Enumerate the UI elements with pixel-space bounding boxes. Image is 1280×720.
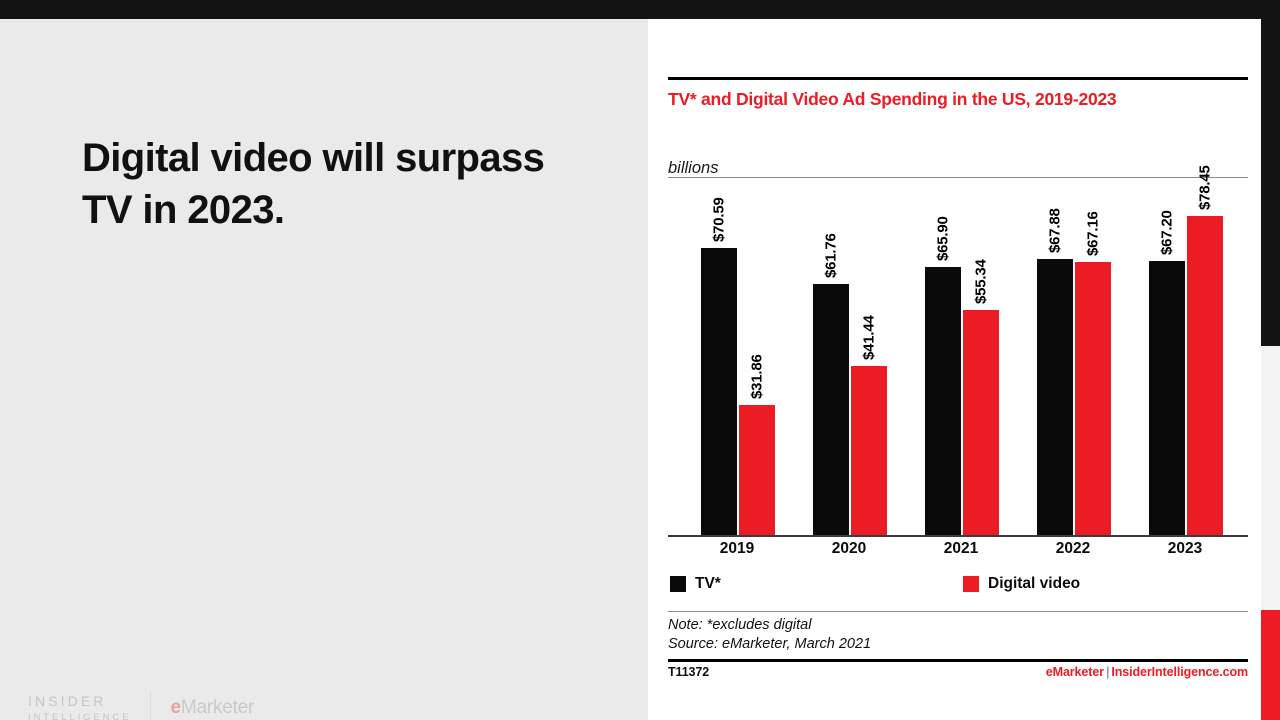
bar-chart-plot-area: $70.59$31.86$61.76$41.44$65.90$55.34$67.… <box>668 189 1248 537</box>
bar-tv-2022[interactable]: $67.88 <box>1037 259 1073 535</box>
bar-value-label: $70.59 <box>711 197 728 242</box>
chart-subtitle: billions <box>668 159 718 178</box>
bar-digital-video-2023[interactable]: $78.45 <box>1187 216 1223 535</box>
slide-root: Digital video will surpass TV in 2023. I… <box>0 0 1280 720</box>
page-title: Digital video will surpass TV in 2023. <box>82 132 602 236</box>
bar-group-2021: $65.90$55.34 <box>905 189 1017 535</box>
bar-value-label: $67.16 <box>1085 211 1102 256</box>
x-tick-2022: 2022 <box>1017 540 1129 558</box>
x-tick-2023: 2023 <box>1129 540 1241 558</box>
bar-value-label: $61.76 <box>823 233 840 278</box>
x-axis-tick-labels: 20192020202120222023 <box>668 540 1248 562</box>
bar-tv-2019[interactable]: $70.59 <box>701 248 737 535</box>
insider-intelligence-logo: INSIDER INTELLIGENCE <box>28 693 131 720</box>
legend-item-digital-video: Digital video <box>963 575 1080 593</box>
bar-tv-2023[interactable]: $67.20 <box>1149 261 1185 535</box>
right-edge-red-stripe <box>1261 610 1280 720</box>
bar-group-2022: $67.88$67.16 <box>1017 189 1129 535</box>
chart-legend: TV* Digital video <box>668 575 1248 599</box>
brand-intelligence-text: INTELLIGENCE <box>28 712 131 720</box>
bar-group-2019: $70.59$31.86 <box>681 189 793 535</box>
bar-digital-video-2021[interactable]: $55.34 <box>963 310 999 535</box>
emarketer-word: Marketer <box>181 697 254 718</box>
footer-emarketer-label: eMarketer <box>1046 665 1104 679</box>
brand-logo: INSIDER INTELLIGENCE eMarketer <box>28 691 254 720</box>
bar-digital-video-2019[interactable]: $31.86 <box>739 405 775 535</box>
chart-panel: TV* and Digital Video Ad Spending in the… <box>648 19 1261 720</box>
bar-group-2023: $67.20$78.45 <box>1129 189 1241 535</box>
bar-value-label: $67.88 <box>1047 208 1064 253</box>
note-rule-thin <box>668 611 1248 612</box>
emarketer-e-glyph: e <box>170 697 180 718</box>
footer-website-link[interactable]: InsiderIntelligence.com <box>1111 665 1248 679</box>
left-panel: Digital video will surpass TV in 2023. I… <box>0 19 648 720</box>
bar-value-label: $65.90 <box>935 216 952 261</box>
bar-value-label: $55.34 <box>973 259 990 304</box>
legend-swatch-digital-video-icon <box>963 576 979 592</box>
bar-digital-video-2022[interactable]: $67.16 <box>1075 262 1111 535</box>
chart-id: T11372 <box>668 665 709 679</box>
x-tick-2021: 2021 <box>905 540 1017 558</box>
bar-group-2020: $61.76$41.44 <box>793 189 905 535</box>
chart-title: TV* and Digital Video Ad Spending in the… <box>668 88 1193 110</box>
footer-brand: eMarketer|InsiderIntelligence.com <box>1046 665 1248 679</box>
bar-value-label: $78.45 <box>1197 165 1214 210</box>
x-tick-2020: 2020 <box>793 540 905 558</box>
chart-footer: T11372 eMarketer|InsiderIntelligence.com <box>668 665 1248 679</box>
brand-insider-text: INSIDER <box>28 693 131 709</box>
bar-value-label: $41.44 <box>861 316 878 361</box>
bar-tv-2020[interactable]: $61.76 <box>813 284 849 535</box>
legend-label-tv: TV* <box>695 575 721 593</box>
x-tick-2019: 2019 <box>681 540 793 558</box>
chart-note: Note: *excludes digital Source: eMarkete… <box>668 616 871 654</box>
legend-item-tv: TV* <box>670 575 721 593</box>
legend-swatch-tv-icon <box>670 576 686 592</box>
right-edge-black-stripe <box>1261 19 1280 346</box>
x-axis-line <box>668 535 1248 537</box>
legend-label-digital-video: Digital video <box>988 575 1080 593</box>
footer-rule-thick <box>668 659 1248 662</box>
header-rule-thin <box>668 177 1248 178</box>
right-edge-gray-stripe <box>1261 346 1280 610</box>
brand-divider <box>150 691 151 720</box>
top-black-band <box>0 0 1280 19</box>
bar-value-label: $67.20 <box>1159 211 1176 256</box>
bar-digital-video-2020[interactable]: $41.44 <box>851 366 887 535</box>
bar-tv-2021[interactable]: $65.90 <box>925 267 961 535</box>
bar-value-label: $31.86 <box>749 355 766 400</box>
header-rule-thick <box>668 77 1248 80</box>
emarketer-logo: eMarketer <box>170 697 254 719</box>
